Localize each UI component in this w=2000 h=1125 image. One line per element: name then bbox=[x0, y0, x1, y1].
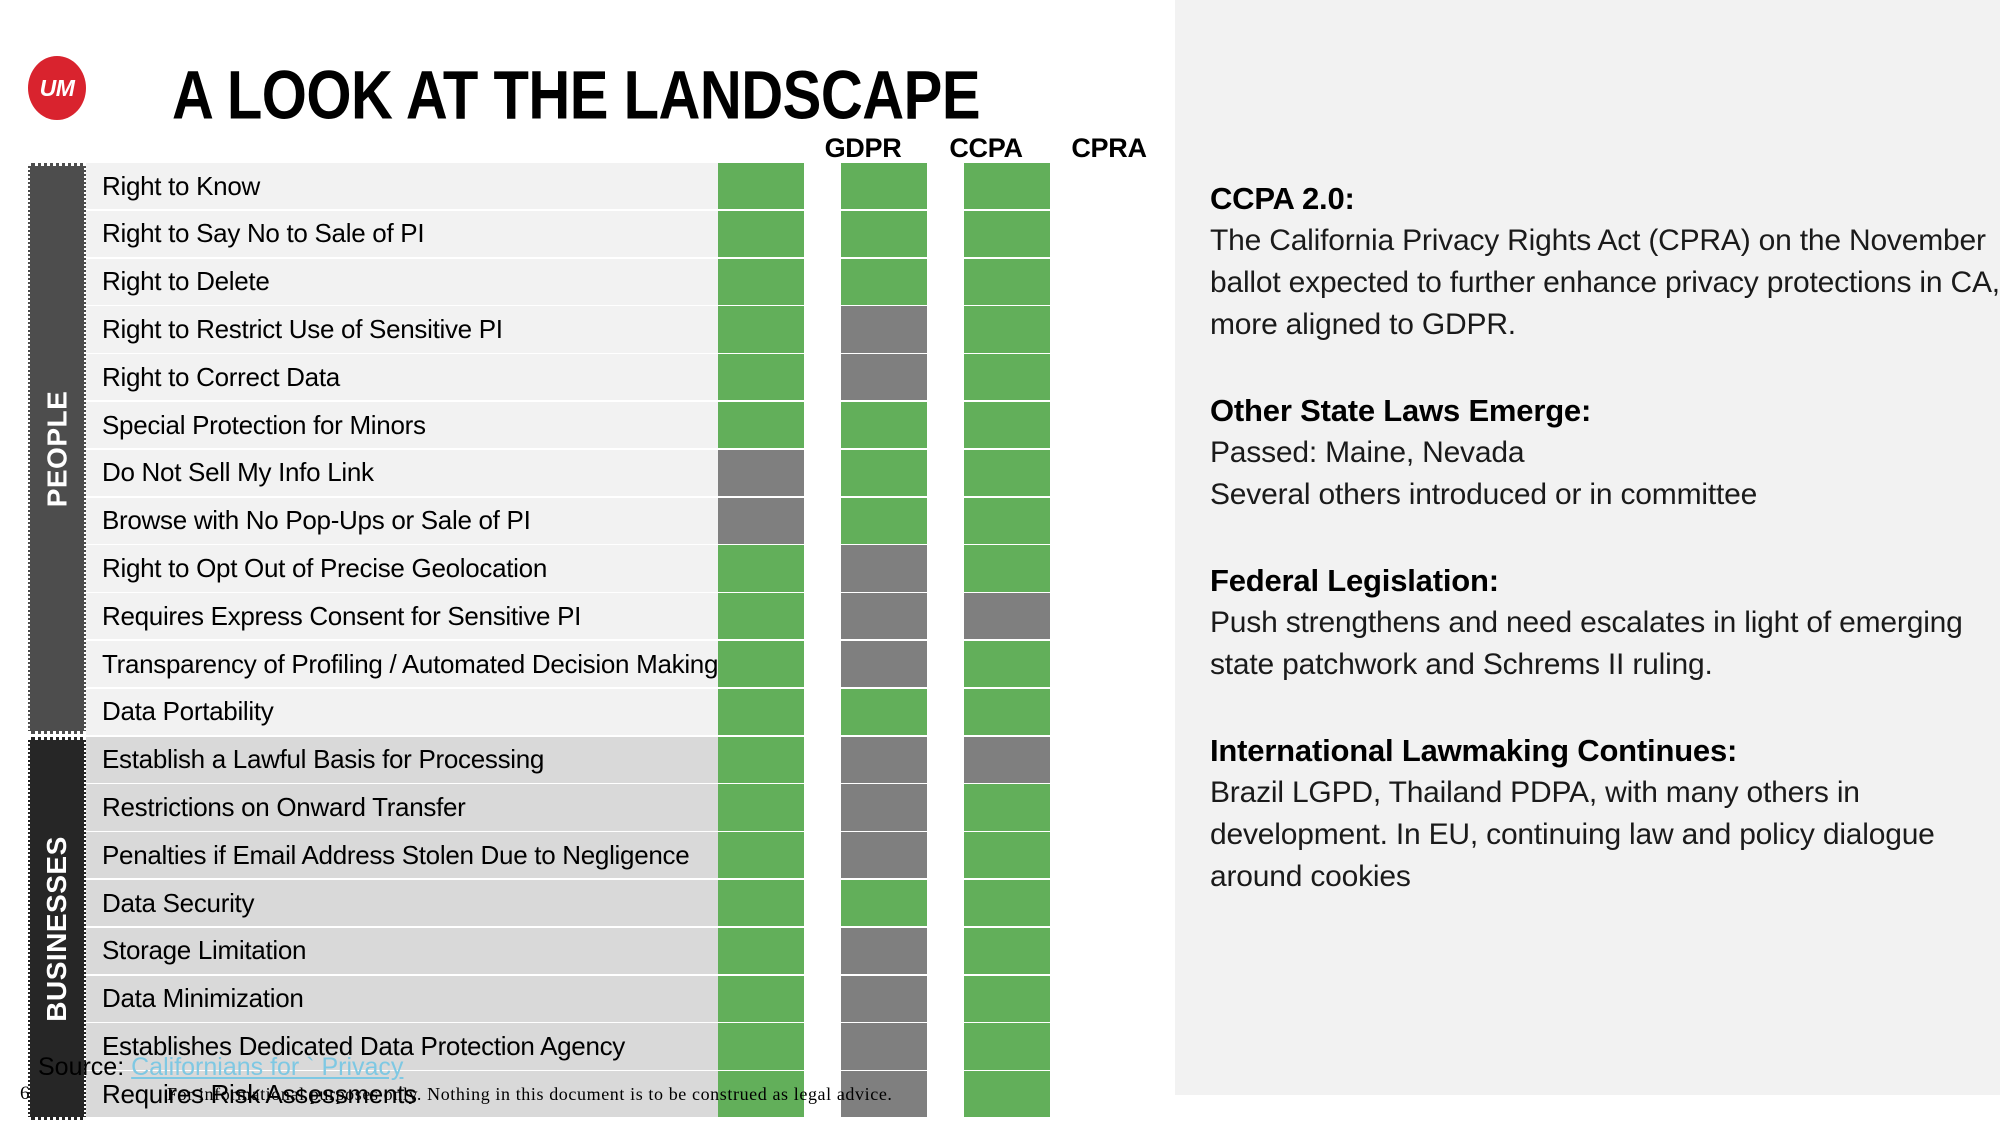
table-row: Restrictions on Onward Transfer bbox=[28, 784, 1108, 830]
cell-gdpr bbox=[718, 832, 804, 878]
cell-ccpa bbox=[841, 450, 927, 496]
cell-gdpr bbox=[718, 450, 804, 496]
cell-cpra bbox=[964, 1023, 1050, 1069]
table-row: Transparency of Profiling / Automated De… bbox=[28, 641, 1108, 687]
cell-gdpr bbox=[718, 928, 804, 974]
cell-cpra bbox=[964, 450, 1050, 496]
row-label: Right to Restrict Use of Sensitive PI bbox=[86, 306, 718, 352]
cell-ccpa bbox=[841, 593, 927, 639]
cell-gdpr bbox=[718, 163, 804, 209]
cell-ccpa bbox=[841, 784, 927, 830]
info-block-heading: Other State Laws Emerge: bbox=[1210, 390, 2000, 432]
row-label: Do Not Sell My Info Link bbox=[86, 450, 718, 496]
row-cells bbox=[718, 832, 1108, 878]
cell-cpra bbox=[964, 976, 1050, 1022]
source-line: Source: Californians for ` Privacy bbox=[38, 1053, 403, 1082]
cell-cpra bbox=[964, 402, 1050, 448]
table-row: Right to Correct Data bbox=[28, 354, 1108, 400]
row-label: Right to Delete bbox=[86, 259, 718, 305]
column-header-ccpa: CCPA bbox=[943, 133, 1029, 164]
row-cells bbox=[718, 784, 1108, 830]
info-block-heading: Federal Legislation: bbox=[1210, 560, 2000, 602]
cell-ccpa bbox=[841, 259, 927, 305]
table-row: Data Portability bbox=[28, 689, 1108, 735]
cell-cpra bbox=[964, 784, 1050, 830]
table-row: Browse with No Pop-Ups or Sale of PI bbox=[28, 498, 1108, 544]
table-row: Data Security bbox=[28, 880, 1108, 926]
cell-gdpr bbox=[718, 641, 804, 687]
table-row: Requires Express Consent for Sensitive P… bbox=[28, 593, 1108, 639]
info-block-body: The California Privacy Rights Act (CPRA)… bbox=[1210, 220, 2000, 346]
comparison-table: Right to KnowRight to Say No to Sale of … bbox=[28, 163, 1108, 1119]
row-cells bbox=[718, 928, 1108, 974]
info-block: CCPA 2.0:The California Privacy Rights A… bbox=[1210, 178, 2000, 346]
cell-ccpa bbox=[841, 211, 927, 257]
right-info-panel: CCPA 2.0:The California Privacy Rights A… bbox=[1175, 0, 2000, 1095]
cell-ccpa bbox=[841, 832, 927, 878]
row-label: Data Portability bbox=[86, 689, 718, 735]
row-label: Right to Know bbox=[86, 163, 718, 209]
group-label-people: PEOPLE bbox=[28, 163, 86, 734]
table-row: Right to Delete bbox=[28, 259, 1108, 305]
cell-ccpa bbox=[841, 641, 927, 687]
cell-gdpr bbox=[718, 784, 804, 830]
table-row: Establish a Lawful Basis for Processing bbox=[28, 737, 1108, 783]
row-cells bbox=[718, 402, 1108, 448]
info-block: International Lawmaking Continues:Brazil… bbox=[1210, 730, 2000, 898]
um-logo-text: UM bbox=[40, 75, 75, 102]
info-block: Federal Legislation:Push strengthens and… bbox=[1210, 560, 2000, 686]
row-cells bbox=[718, 737, 1108, 783]
row-cells bbox=[718, 545, 1108, 591]
source-link[interactable]: Californians for ` Privacy bbox=[131, 1053, 403, 1081]
slide-canvas: CCPA 2.0:The California Privacy Rights A… bbox=[0, 0, 2000, 1125]
cell-ccpa bbox=[841, 498, 927, 544]
cell-cpra bbox=[964, 928, 1050, 974]
cell-ccpa bbox=[841, 402, 927, 448]
table-row: Do Not Sell My Info Link bbox=[28, 450, 1108, 496]
right-info-panel-content: CCPA 2.0:The California Privacy Rights A… bbox=[1210, 178, 2000, 898]
info-block-heading: CCPA 2.0: bbox=[1210, 178, 2000, 220]
cell-ccpa bbox=[841, 163, 927, 209]
cell-ccpa bbox=[841, 928, 927, 974]
table-row: Right to Opt Out of Precise Geolocation bbox=[28, 545, 1108, 591]
group-label-businesses-text: BUSINESSES bbox=[41, 836, 73, 1022]
cell-ccpa bbox=[841, 306, 927, 352]
table-row: Right to Know bbox=[28, 163, 1108, 209]
cell-gdpr bbox=[718, 1023, 804, 1069]
row-cells bbox=[718, 880, 1108, 926]
cell-gdpr bbox=[718, 306, 804, 352]
cell-gdpr bbox=[718, 593, 804, 639]
cell-gdpr bbox=[718, 259, 804, 305]
cell-gdpr bbox=[718, 689, 804, 735]
row-cells bbox=[718, 306, 1108, 352]
cell-cpra bbox=[964, 737, 1050, 783]
row-cells bbox=[718, 259, 1108, 305]
table-row: Penalties if Email Address Stolen Due to… bbox=[28, 832, 1108, 878]
cell-gdpr bbox=[718, 737, 804, 783]
cell-cpra bbox=[964, 498, 1050, 544]
cell-cpra bbox=[964, 354, 1050, 400]
cell-gdpr bbox=[718, 880, 804, 926]
row-cells bbox=[718, 641, 1108, 687]
cell-gdpr bbox=[718, 354, 804, 400]
cell-ccpa bbox=[841, 1023, 927, 1069]
info-block: Other State Laws Emerge:Passed: Maine, N… bbox=[1210, 390, 2000, 516]
disclaimer-text: For informational purposes only. Nothing… bbox=[167, 1084, 893, 1105]
cell-gdpr bbox=[718, 498, 804, 544]
row-label: Storage Limitation bbox=[86, 928, 718, 974]
cell-cpra bbox=[964, 545, 1050, 591]
row-label: Right to Opt Out of Precise Geolocation bbox=[86, 545, 718, 591]
info-block-body: Brazil LGPD, Thailand PDPA, with many ot… bbox=[1210, 772, 2000, 898]
cell-cpra bbox=[964, 641, 1050, 687]
row-label: Establish a Lawful Basis for Processing bbox=[86, 737, 718, 783]
cell-cpra bbox=[964, 832, 1050, 878]
row-cells bbox=[718, 163, 1108, 209]
cell-ccpa bbox=[841, 545, 927, 591]
row-label: Special Protection for Minors bbox=[86, 402, 718, 448]
cell-cpra bbox=[964, 1071, 1050, 1117]
page-number: 6 bbox=[20, 1083, 30, 1105]
cell-ccpa bbox=[841, 737, 927, 783]
row-label: Right to Say No to Sale of PI bbox=[86, 211, 718, 257]
cell-gdpr bbox=[718, 211, 804, 257]
row-cells bbox=[718, 211, 1108, 257]
row-label: Data Minimization bbox=[86, 976, 718, 1022]
cell-ccpa bbox=[841, 689, 927, 735]
source-label: Source: bbox=[38, 1053, 124, 1081]
row-label: Restrictions on Onward Transfer bbox=[86, 784, 718, 830]
cell-cpra bbox=[964, 211, 1050, 257]
row-label: Penalties if Email Address Stolen Due to… bbox=[86, 832, 718, 878]
cell-gdpr bbox=[718, 402, 804, 448]
cell-ccpa bbox=[841, 354, 927, 400]
cell-ccpa bbox=[841, 976, 927, 1022]
column-header-cpra: CPRA bbox=[1066, 133, 1152, 164]
cell-cpra bbox=[964, 163, 1050, 209]
cell-cpra bbox=[964, 593, 1050, 639]
cell-cpra bbox=[964, 880, 1050, 926]
column-header-gdpr: GDPR bbox=[820, 133, 906, 164]
row-cells bbox=[718, 593, 1108, 639]
table-row: Right to Say No to Sale of PI bbox=[28, 211, 1108, 257]
info-block-heading: International Lawmaking Continues: bbox=[1210, 730, 2000, 772]
info-block-body: Passed: Maine, NevadaSeveral others intr… bbox=[1210, 432, 2000, 516]
row-label: Transparency of Profiling / Automated De… bbox=[86, 641, 718, 687]
row-cells bbox=[718, 450, 1108, 496]
row-cells bbox=[718, 976, 1108, 1022]
page-title: A LOOK AT THE LANDSCAPE bbox=[172, 56, 980, 135]
table-row: Right to Restrict Use of Sensitive PI bbox=[28, 306, 1108, 352]
row-label: Data Security bbox=[86, 880, 718, 926]
um-logo: UM bbox=[28, 56, 86, 120]
info-block-body: Push strengthens and need escalates in l… bbox=[1210, 602, 2000, 686]
cell-gdpr bbox=[718, 545, 804, 591]
row-cells bbox=[718, 354, 1108, 400]
cell-gdpr bbox=[718, 976, 804, 1022]
group-label-people-text: PEOPLE bbox=[41, 390, 73, 507]
cell-cpra bbox=[964, 306, 1050, 352]
table-row: Storage Limitation bbox=[28, 928, 1108, 974]
row-label: Browse with No Pop-Ups or Sale of PI bbox=[86, 498, 718, 544]
table-row: Data Minimization bbox=[28, 976, 1108, 1022]
cell-cpra bbox=[964, 259, 1050, 305]
row-cells bbox=[718, 1023, 1108, 1069]
row-label: Right to Correct Data bbox=[86, 354, 718, 400]
row-cells bbox=[718, 498, 1108, 544]
row-cells bbox=[718, 689, 1108, 735]
cell-cpra bbox=[964, 689, 1050, 735]
table-row: Special Protection for Minors bbox=[28, 402, 1108, 448]
row-label: Requires Express Consent for Sensitive P… bbox=[86, 593, 718, 639]
cell-ccpa bbox=[841, 880, 927, 926]
